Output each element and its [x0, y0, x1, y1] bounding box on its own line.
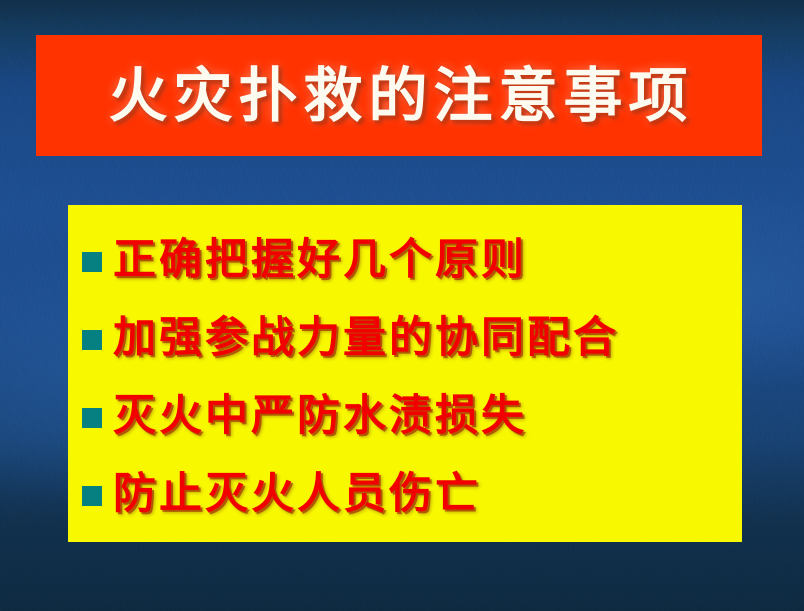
content-panel: 正确把握好几个原则 加强参战力量的协同配合 灭火中严防水渍损失 防止灭火人员伤亡 — [68, 205, 742, 542]
square-bullet-icon — [82, 486, 102, 506]
bullet-list: 正确把握好几个原则 加强参战力量的协同配合 灭火中严防水渍损失 防止灭火人员伤亡 — [68, 205, 742, 533]
list-item: 防止灭火人员伤亡 — [82, 455, 742, 533]
title-banner: 火灾扑救的注意事项 — [36, 35, 762, 156]
square-bullet-icon — [82, 252, 102, 272]
bullet-item-label: 防止灭火人员伤亡 — [113, 473, 481, 516]
list-item: 加强参战力量的协同配合 — [82, 299, 742, 377]
list-item: 灭火中严防水渍损失 — [82, 377, 742, 455]
square-bullet-icon — [82, 408, 102, 428]
square-bullet-icon — [82, 330, 102, 350]
bullet-item-label: 加强参战力量的协同配合 — [113, 317, 619, 360]
presentation-slide: 火灾扑救的注意事项 正确把握好几个原则 加强参战力量的协同配合 灭火中严防水渍损… — [0, 0, 804, 611]
bullet-item-label: 正确把握好几个原则 — [113, 239, 527, 282]
list-item: 正确把握好几个原则 — [82, 221, 742, 299]
page-title: 火灾扑救的注意事项 — [108, 66, 693, 125]
bullet-item-label: 灭火中严防水渍损失 — [113, 395, 527, 438]
